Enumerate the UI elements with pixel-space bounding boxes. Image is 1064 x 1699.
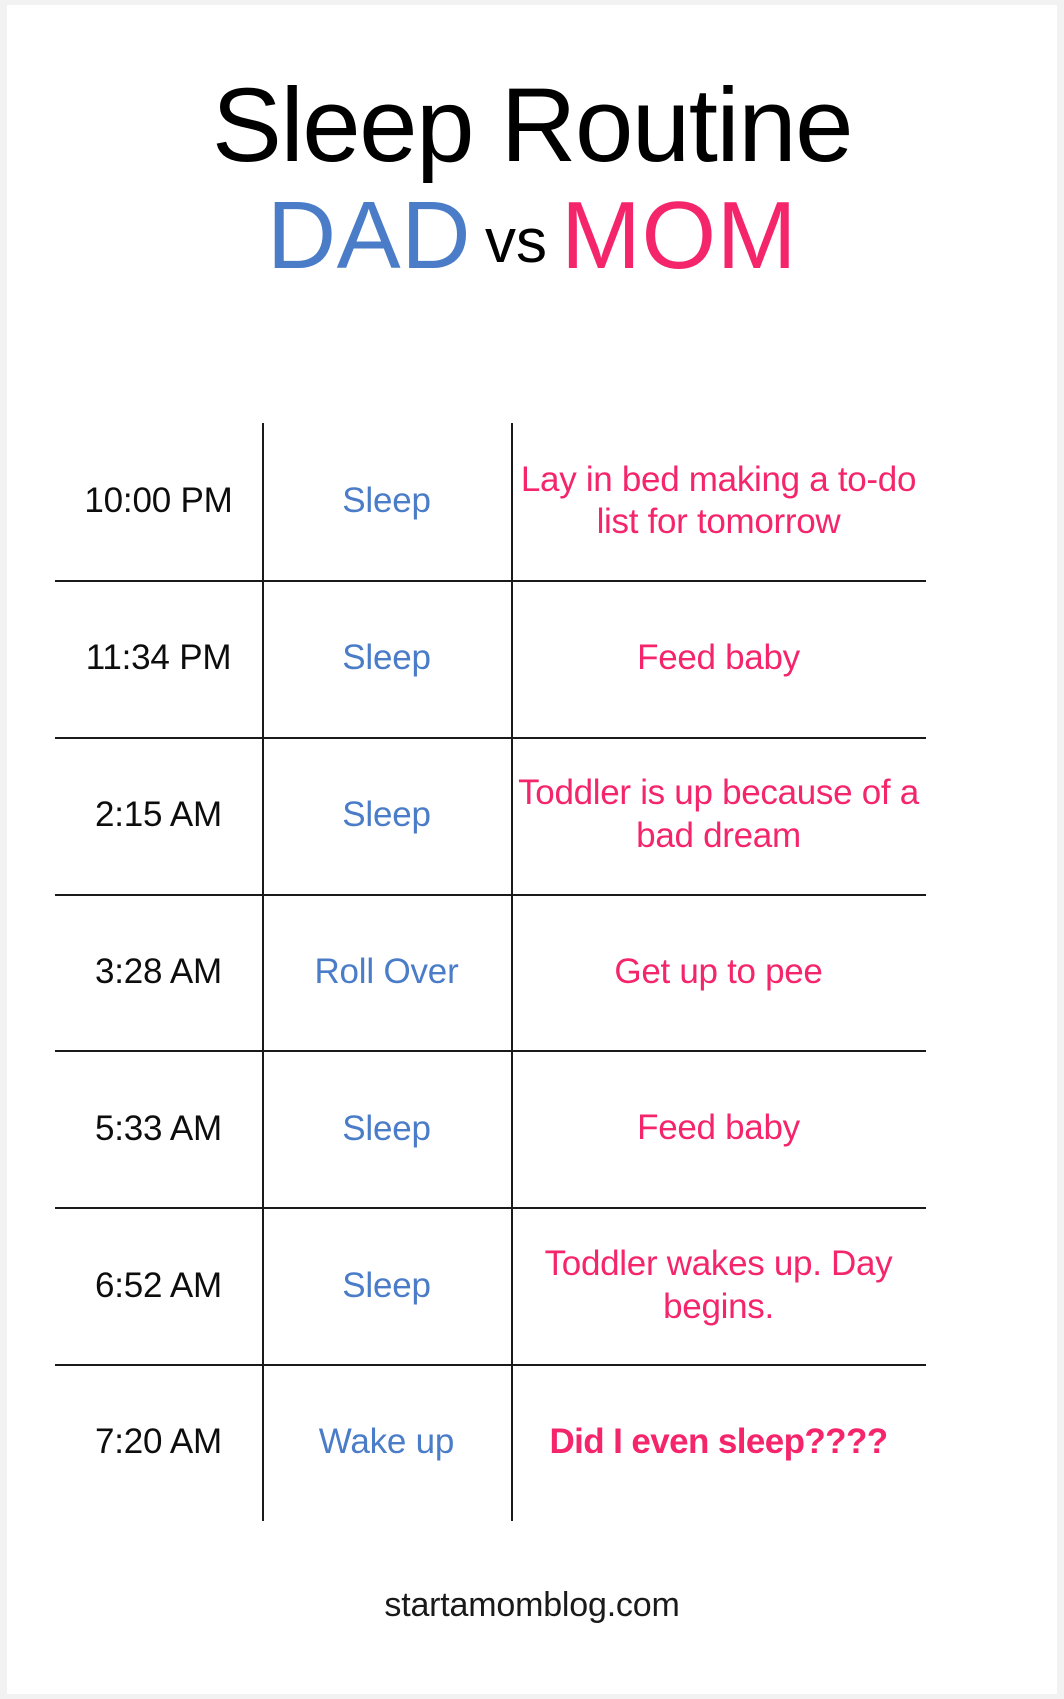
table-row: 6:52 AMSleepToddler wakes up. Day begins… <box>55 1207 926 1364</box>
table-body: 10:00 PMSleepLay in bed making a to-do l… <box>55 423 926 1521</box>
cell-mom: Did I even sleep???? <box>511 1364 926 1521</box>
poster-header: Sleep Routine DADvsMOM <box>0 72 1064 285</box>
comparison-table: 10:00 PMSleepLay in bed making a to-do l… <box>55 423 926 1521</box>
page-subtitle: DADvsMOM <box>0 187 1064 285</box>
page-edge-top <box>0 0 1064 5</box>
cell-mom: Feed baby <box>511 580 926 737</box>
subtitle-mom: MOM <box>561 182 797 289</box>
table-row: 3:28 AMRoll OverGet up to pee <box>55 894 926 1051</box>
page-title: Sleep Routine <box>0 72 1064 179</box>
cell-time: 7:20 AM <box>55 1364 262 1521</box>
cell-mom: Lay in bed making a to-do list for tomor… <box>511 423 926 580</box>
infographic-poster: Sleep Routine DADvsMOM 10:00 PMSleepLay … <box>0 0 1064 1699</box>
cell-time: 6:52 AM <box>55 1207 262 1364</box>
cell-time: 11:34 PM <box>55 580 262 737</box>
poster-footer: startamomblog.com <box>0 1586 1064 1625</box>
table-row: 10:00 PMSleepLay in bed making a to-do l… <box>55 423 926 580</box>
cell-dad: Roll Over <box>262 894 511 1051</box>
table-row: 11:34 PMSleepFeed baby <box>55 580 926 737</box>
cell-dad: Sleep <box>262 1207 511 1364</box>
cell-mom: Feed baby <box>511 1050 926 1207</box>
cell-dad: Sleep <box>262 1050 511 1207</box>
cell-time: 10:00 PM <box>55 423 262 580</box>
cell-time: 3:28 AM <box>55 894 262 1051</box>
cell-dad: Sleep <box>262 737 511 894</box>
cell-time: 2:15 AM <box>55 737 262 894</box>
page-edge-bottom <box>0 1694 1064 1699</box>
cell-time: 5:33 AM <box>55 1050 262 1207</box>
cell-dad: Sleep <box>262 423 511 580</box>
site-credit: startamomblog.com <box>384 1586 679 1624</box>
subtitle-vs: vs <box>471 207 561 276</box>
table-row: 5:33 AMSleepFeed baby <box>55 1050 926 1207</box>
cell-mom: Get up to pee <box>511 894 926 1051</box>
cell-mom: Toddler wakes up. Day begins. <box>511 1207 926 1364</box>
cell-dad: Sleep <box>262 580 511 737</box>
table-row: 2:15 AMSleepToddler is up because of a b… <box>55 737 926 894</box>
cell-dad: Wake up <box>262 1364 511 1521</box>
table-row: 7:20 AMWake upDid I even sleep???? <box>55 1364 926 1521</box>
cell-mom: Toddler is up because of a bad dream <box>511 737 926 894</box>
subtitle-dad: DAD <box>267 182 471 289</box>
